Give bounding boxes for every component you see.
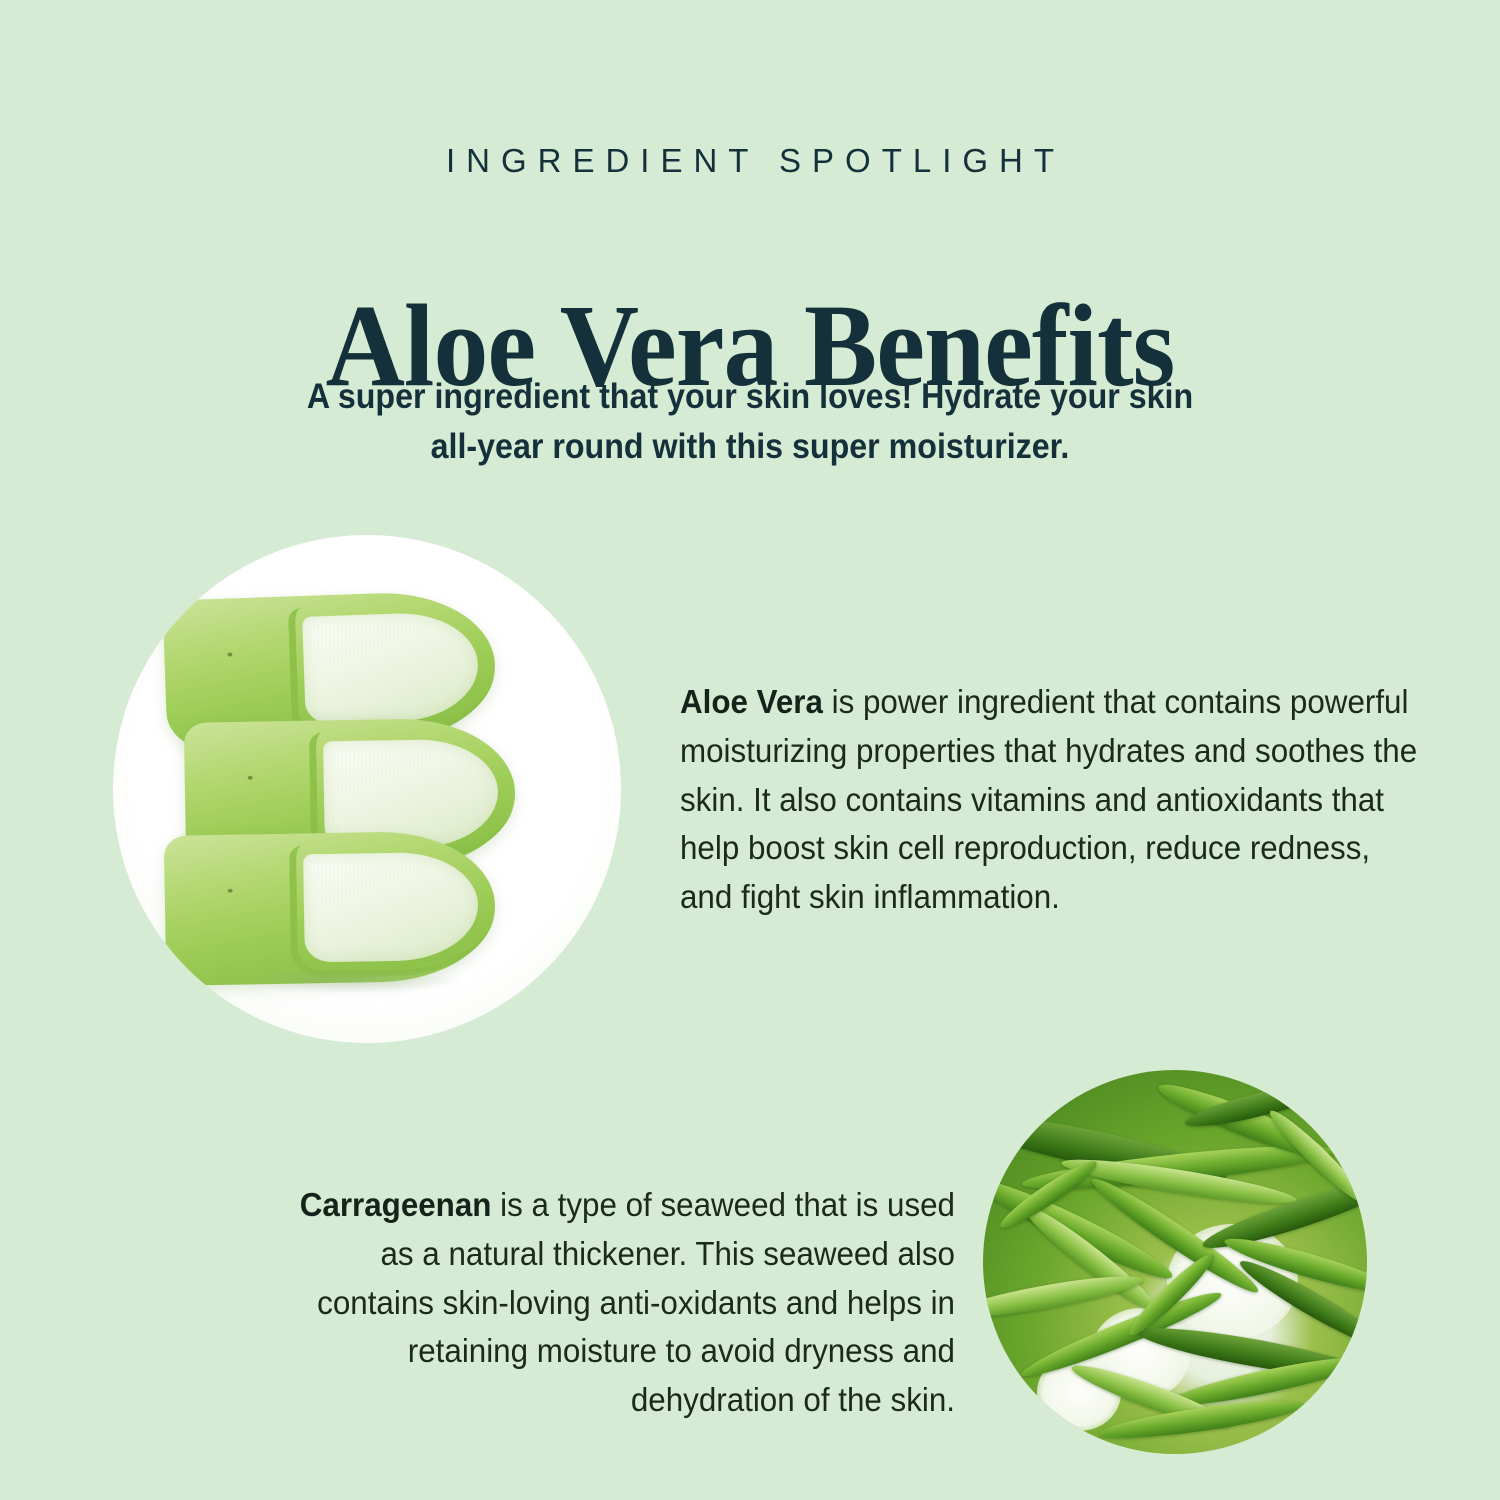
aloe-vera-paragraph: Aloe Vera is power ingredient that conta…: [680, 678, 1431, 922]
aloe-slice-stack: [113, 535, 621, 1043]
aloe-vera-lead-in: Aloe Vera: [680, 683, 823, 720]
aloe-speck: [247, 776, 252, 780]
subtitle: A super ingredient that your skin loves!…: [290, 372, 1210, 471]
aloe-slice-bottom: [164, 830, 497, 986]
carrageenan-lead-in: Carrageenan: [300, 1186, 492, 1223]
aloe-speck: [227, 889, 232, 893]
subtitle-line-2: all-year round with this super moisturiz…: [431, 427, 1070, 466]
seaweed-fronds: [983, 1070, 1367, 1454]
infographic-page: INGREDIENT SPOTLIGHT Aloe Vera Benefits …: [0, 0, 1500, 1500]
carrageenan-paragraph: Carrageenan is a type of seaweed that is…: [271, 1181, 955, 1425]
aloe-speck: [227, 652, 232, 656]
aloe-drop-shadow: [233, 967, 463, 993]
aloe-cut-edge: [289, 842, 496, 978]
subtitle-line-1: A super ingredient that your skin loves!…: [307, 377, 1193, 416]
aloe-vera-image: [113, 535, 621, 1043]
carrageenan-seaweed-image: [983, 1070, 1367, 1454]
eyebrow-label: INGREDIENT SPOTLIGHT: [0, 143, 1500, 179]
